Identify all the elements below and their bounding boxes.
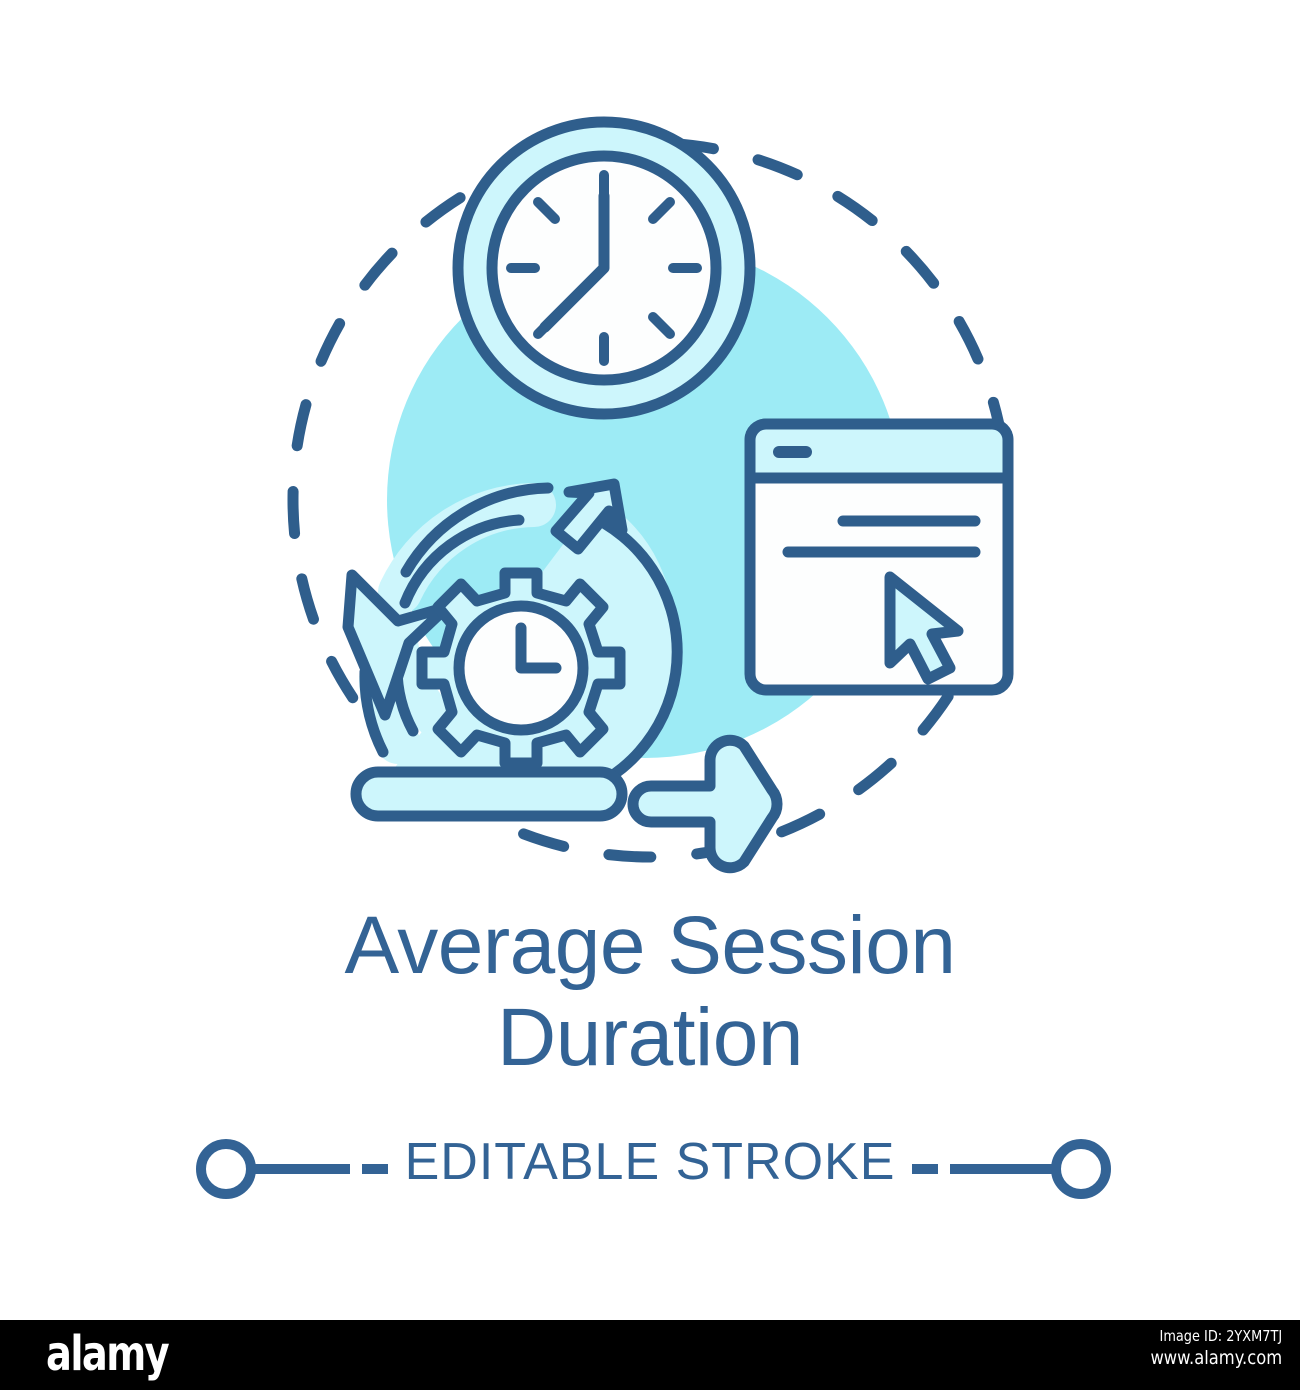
screenshot-root: Average Session Duration EDITABLE STROKE… <box>0 0 1300 1390</box>
cycle-bottom-bar <box>356 772 622 816</box>
concept-illustration <box>0 0 1300 1320</box>
gear-clock-icon <box>422 573 620 763</box>
alamy-logo: alamy <box>46 1326 168 1382</box>
watermark-meta: Image ID: 2YXM7TJ www.alamy.com <box>1129 1326 1282 1370</box>
alamy-url-label: www.alamy.com <box>1150 1346 1282 1370</box>
image-id-label: Image ID: 2YXM7TJ <box>1150 1326 1282 1346</box>
watermark-bar: alamy Image ID: 2YXM7TJ www.alamy.com <box>0 1320 1300 1390</box>
editable-stroke-label: EDITABLE STROKE <box>0 1132 1300 1192</box>
forward-arrow-icon <box>633 740 777 867</box>
browser-window-icon <box>750 424 1008 690</box>
clock-icon <box>458 122 750 414</box>
